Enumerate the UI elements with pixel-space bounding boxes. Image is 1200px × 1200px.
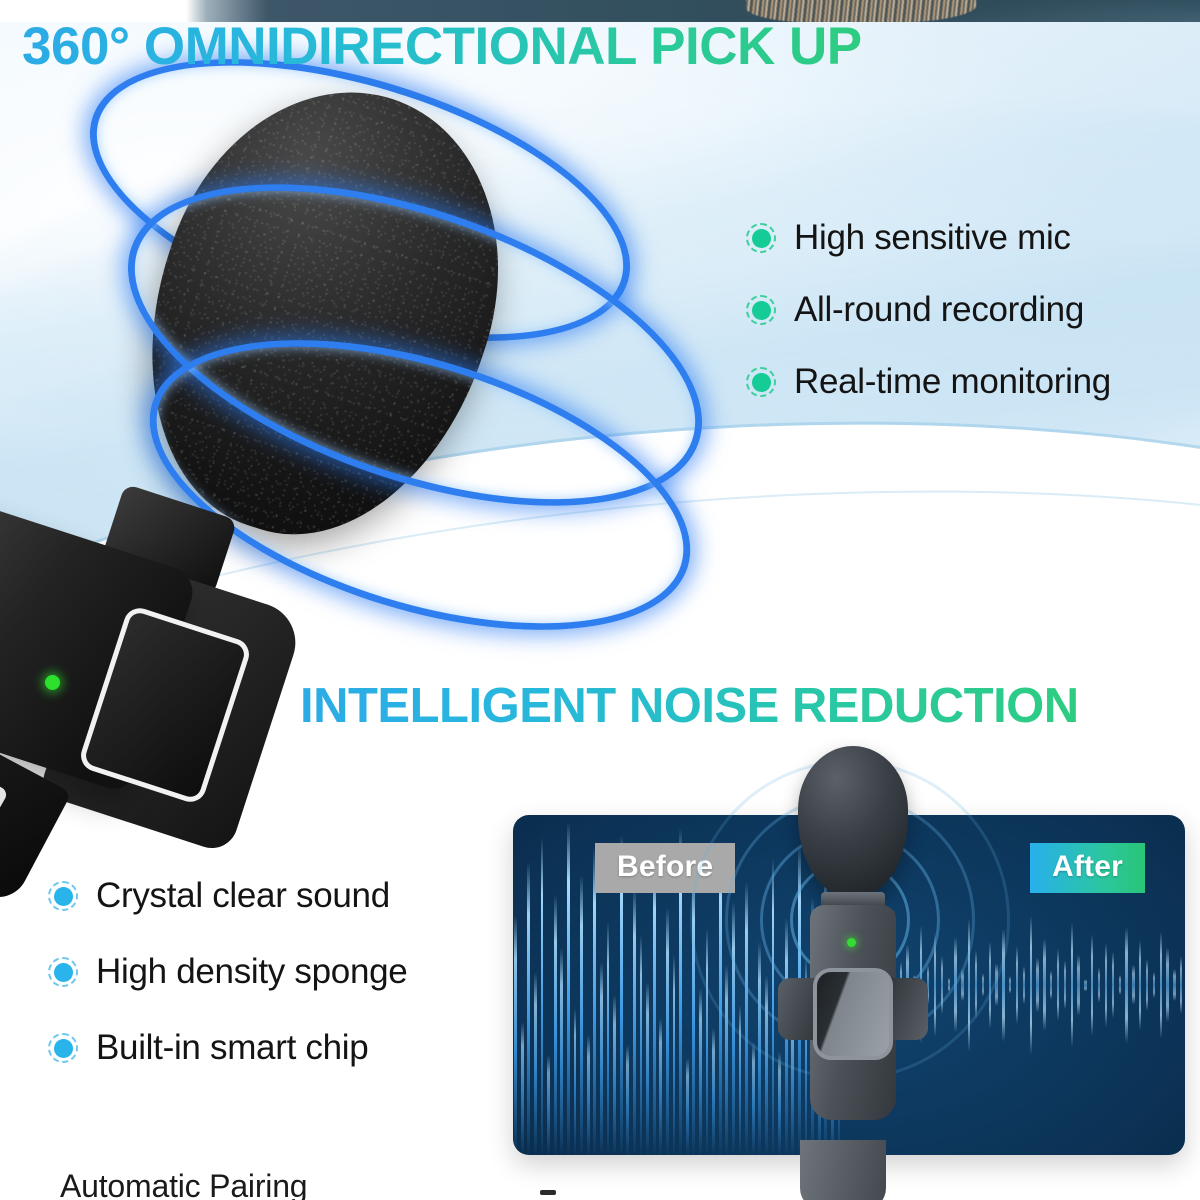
noise-reduction-microphone-illustration [700,700,1000,1180]
waveform-bar [541,838,544,1155]
waveform-bar [607,922,610,1155]
feature-label: Built-in smart chip [96,1028,368,1068]
status-badge-after: After [1030,843,1145,893]
waveform-bar [1030,916,1032,1055]
waveform-bar [659,1018,662,1155]
microphone-foam-windscreen [798,746,908,896]
waveform-bar [1077,955,1079,1016]
waveform-bar [626,1045,629,1155]
footer-caption: Automatic Pairing [60,1168,307,1200]
waveform-bar [646,982,649,1155]
bullet-dot-icon [746,367,776,397]
waveform-bar [673,955,676,1155]
footer-text-fragment [540,1190,556,1195]
page-title-pickup: 360° OMNIDIRECTIONAL PICK UP [22,16,862,77]
list-item: Built-in smart chip [48,1028,407,1068]
waveform-bar [666,908,669,1155]
bullet-dot-icon [48,1033,78,1063]
waveform-bar [1016,946,1018,1024]
waveform-bar [600,962,603,1155]
feature-list-pickup: High sensitive mic All-round recording R… [746,218,1111,434]
feature-label: High sensitive mic [794,218,1071,258]
waveform-bar [1036,958,1038,1013]
waveform-bar [554,895,557,1155]
waveform-bar [1064,960,1066,1009]
waveform-bar [1023,966,1025,1004]
waveform-bar [633,888,636,1155]
waveform-bar [1132,965,1134,1005]
status-led-indicator [45,675,60,690]
waveform-bar [527,862,530,1155]
waveform-bar [1057,949,1059,1021]
microphone-clip-right [888,978,928,1040]
waveform-bar [560,948,563,1155]
waveform-bar [1084,979,1086,991]
microphone-front-plate [813,968,893,1060]
waveform-bar [1091,934,1093,1035]
waveform-bar [1071,923,1073,1047]
feature-label: High density sponge [96,952,407,992]
waveform-bar [1173,969,1175,1001]
microphone-bottom-fragment [800,1140,886,1200]
waveform-bar [1105,943,1107,1027]
waveform-bar [1043,939,1045,1031]
bullet-dot-icon [746,295,776,325]
waveform-bar [1098,968,1100,1003]
list-item: Crystal clear sound [48,876,407,916]
waveform-bar [521,1022,524,1155]
status-led-indicator [847,938,856,947]
waveform-bar [534,972,537,1155]
feature-label: All-round recording [794,290,1084,330]
feature-label: Crystal clear sound [96,876,390,916]
waveform-bar [1180,956,1182,1014]
waveform-bar [567,822,570,1155]
waveform-bar [593,848,596,1155]
waveform-bar [1166,947,1168,1022]
waveform-bar [574,1008,577,1155]
waveform-bar [587,1035,590,1155]
waveform-bar [1112,952,1114,1018]
waveform-bar [1153,972,1155,998]
feature-list-noise-reduction: Crystal clear sound High density sponge … [48,876,407,1104]
waveform-bar [1139,940,1141,1030]
feature-label: Real-time monitoring [794,362,1111,402]
waveform-bar [613,995,616,1155]
list-item: High sensitive mic [746,218,1111,258]
bullet-dot-icon [746,223,776,253]
product-infographic: 360° OMNIDIRECTIONAL PICK UP High sensit… [0,0,1200,1200]
list-item: All-round recording [746,290,1111,330]
waveform-bar [1146,959,1148,1011]
bullet-dot-icon [48,881,78,911]
list-item: High density sponge [48,952,407,992]
waveform-bar [653,855,656,1155]
waveform-bar [580,875,583,1155]
waveform-bar [1160,932,1162,1039]
waveform-bar [1050,971,1052,1000]
waveform-bar [686,1058,689,1155]
waveform-bar [514,915,517,1155]
list-item: Real-time monitoring [746,362,1111,402]
waveform-bar [547,1055,550,1155]
waveform-bar [1009,976,1011,993]
bullet-dot-icon [48,957,78,987]
waveform-bar [1125,927,1127,1043]
waveform-bar [640,935,643,1155]
waveform-bar [1119,975,1121,995]
microphone-clip-left [778,978,818,1040]
